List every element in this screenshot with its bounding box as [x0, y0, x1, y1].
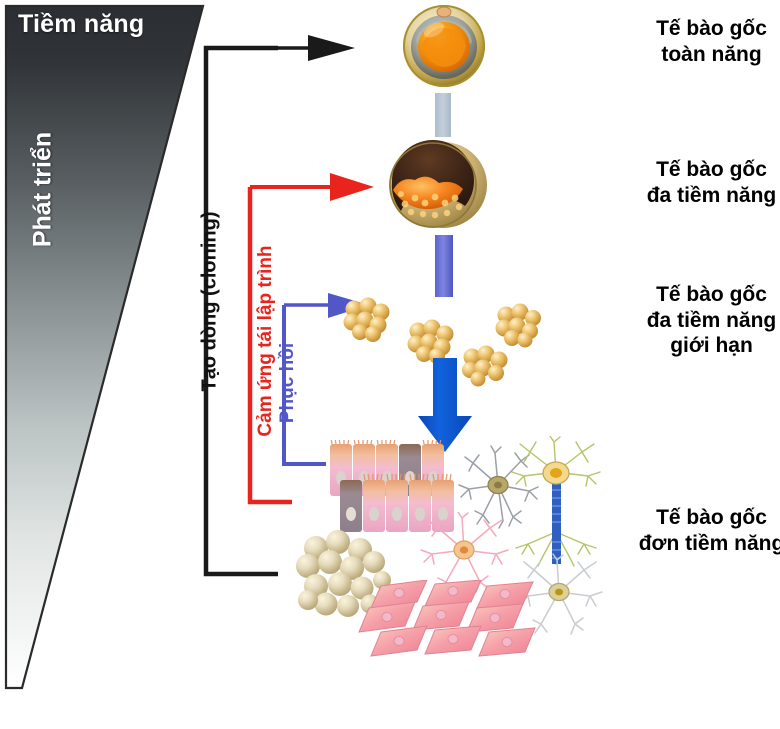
zygote-icon — [392, 2, 496, 90]
label-multipotent-line1: Tế bào gốc — [594, 282, 780, 308]
wedge-top-label: Tiềm năng — [18, 10, 198, 39]
label-pluripotent-line2: đa tiềm năng — [594, 183, 780, 209]
label-multipotent-line2: đa tiềm năng — [594, 308, 780, 334]
label-multipotent-line3: giới hạn — [594, 333, 780, 359]
label-totipotent-line2: toàn năng — [594, 42, 780, 68]
connector-bar-1 — [432, 93, 454, 137]
label-unipotent-line2: đơn tiềm năng — [594, 531, 780, 557]
label-unipotent-line1: Tế bào gốc — [594, 505, 780, 531]
label-pluripotent: Tế bào gốc đa tiềm năng — [594, 157, 780, 208]
label-totipotent: Tế bào gốc toàn năng — [594, 16, 780, 67]
recovery-bracket-label: Phục hồi — [277, 308, 299, 458]
wedge-side-label: Phát triển — [29, 85, 58, 295]
label-totipotent-line1: Tế bào gốc — [594, 16, 780, 42]
label-pluripotent-line1: Tế bào gốc — [594, 157, 780, 183]
cloning-bracket-label: Tạo dòng (cloning) — [199, 182, 222, 422]
muscle-cells-icon — [355, 580, 545, 662]
stem-cell-diagram: Tiềm năng Phát triển Tạo dòng (cloning) … — [0, 0, 780, 729]
connector-bar-2 — [432, 235, 456, 297]
blastocyst-icon — [381, 136, 493, 236]
label-multipotent: Tế bào gốc đa tiềm năng giới hạn — [594, 282, 780, 359]
green-neuron-icon — [508, 436, 604, 568]
label-unipotent: Tế bào gốc đơn tiềm năng — [594, 505, 780, 556]
